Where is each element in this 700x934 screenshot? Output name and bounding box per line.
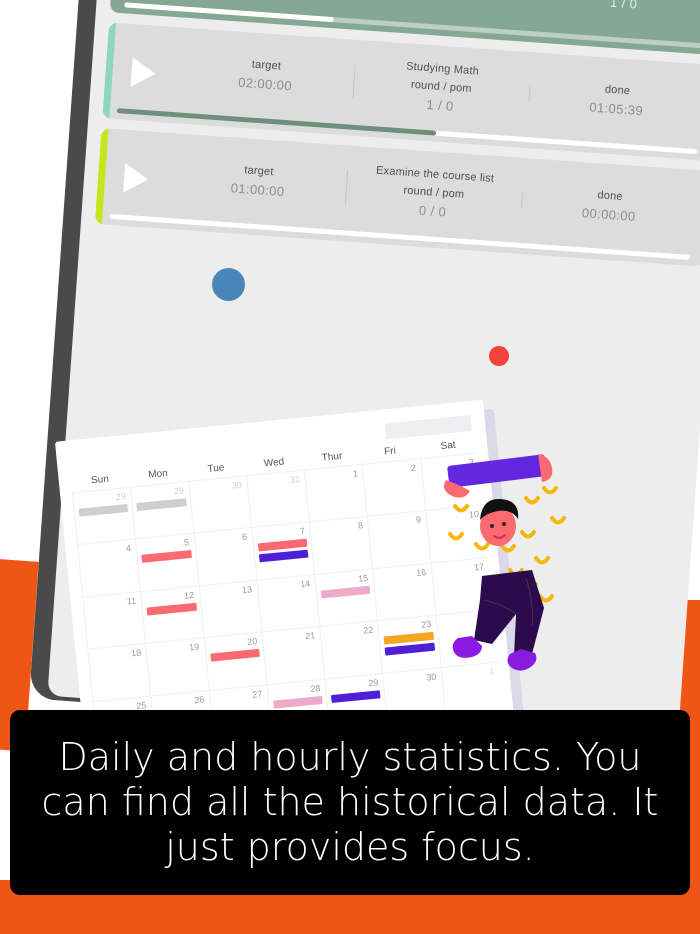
calendar-day-cell[interactable]: 23 — [377, 615, 440, 673]
calendar-day-cell[interactable]: 7 — [251, 522, 314, 580]
calendar-day-cell[interactable]: 6 — [193, 527, 256, 585]
calendar-day-cell[interactable]: 30 — [188, 475, 251, 533]
play-icon[interactable] — [123, 163, 149, 195]
calendar-event-bar[interactable] — [273, 696, 323, 709]
calendar-day-cell[interactable]: 14 — [256, 574, 319, 632]
calendar-toolbar-placeholder — [385, 415, 472, 439]
calendar-day-number: 6 — [241, 532, 247, 542]
calendar-day-number: 27 — [252, 688, 263, 699]
red-dot-decoration — [489, 346, 509, 366]
calendar-event-bar[interactable] — [210, 649, 260, 662]
calendar-day-cell[interactable]: 31 — [246, 470, 309, 528]
calendar-day-number: 16 — [416, 567, 427, 578]
calendar-day-number: 1 — [352, 468, 358, 478]
calendar-day-cell[interactable]: 16 — [372, 563, 435, 621]
calendar-day-cell[interactable]: 20 — [203, 632, 266, 690]
calendar-day-cell[interactable]: 11 — [82, 591, 145, 649]
calendar-event-bar[interactable] — [79, 504, 129, 517]
calendar-day-number: 5 — [183, 538, 189, 548]
calendar-day-cell[interactable]: 29 — [130, 481, 193, 539]
calendar-day-cell[interactable]: 29 — [72, 487, 135, 545]
calendar-day-cell[interactable]: 21 — [261, 626, 324, 684]
calendar-day-number: 7 — [300, 526, 306, 536]
calendar-day-number: 26 — [194, 694, 205, 705]
calendar-day-cell[interactable]: 18 — [87, 643, 150, 701]
calendar-day-cell[interactable]: 2 — [362, 458, 425, 516]
calendar-day-cell[interactable]: 15 — [314, 568, 377, 626]
calendar-event-bar[interactable] — [147, 603, 197, 616]
calendar-day-number: 30 — [231, 480, 242, 491]
calendar-day-number: 23 — [421, 619, 432, 630]
round-value: 1 / 0 — [539, 0, 700, 17]
calendar-day-number: 9 — [416, 515, 422, 525]
calendar-day-cell[interactable]: 9 — [367, 510, 430, 568]
calendar-day-cell[interactable]: 5 — [135, 533, 198, 591]
task-title-column: Examine the course list round / pom 0 / … — [344, 163, 523, 225]
task-target-column: target 02:00:00 — [177, 53, 355, 97]
task-done-column: done 01:05:39 — [360, 0, 538, 8]
calendar-day-number: 14 — [300, 578, 311, 589]
calendar-day-number: 13 — [242, 584, 253, 595]
blue-dot-decoration — [212, 268, 245, 301]
calendar-day-number: 12 — [184, 590, 195, 601]
calendar-day-number: 15 — [358, 573, 369, 584]
calendar-day-number: 8 — [358, 521, 364, 531]
calendar-day-number: 11 — [126, 595, 136, 606]
task-target-column: target 01:00:00 — [169, 159, 347, 203]
done-value: 01:05:39 — [364, 0, 533, 8]
calendar-day-number: 20 — [247, 636, 258, 647]
calendar-day-cell[interactable]: 19 — [145, 637, 208, 695]
task-done-column: done 00:00:00 — [520, 184, 698, 228]
play-icon[interactable] — [131, 57, 157, 89]
caption-text: Daily and hourly statistics. You can fin… — [10, 735, 690, 869]
task-done-column: done 01:05:39 — [528, 78, 700, 122]
calendar-day-number: 4 — [125, 543, 131, 553]
calendar-day-number: 28 — [310, 683, 321, 694]
calendar-event-bar[interactable] — [137, 498, 187, 511]
calendar-day-cell[interactable]: 8 — [309, 516, 372, 574]
screenshot-root: target 03:00:00 done 01:05:39 round / po… — [0, 0, 700, 934]
calendar-day-number: 30 — [426, 671, 437, 682]
calendar-day-number: 29 — [368, 677, 379, 688]
calendar-day-cell[interactable]: 13 — [198, 580, 261, 638]
task-accent-bar — [110, 0, 124, 13]
task-title-column: Studying Math round / pom 1 / 0 — [352, 57, 531, 119]
calendar-event-bar[interactable] — [259, 550, 309, 563]
calendar-day-number: 29 — [115, 491, 126, 502]
calendar-day-number: 31 — [289, 474, 300, 485]
calendar-day-cell[interactable]: 22 — [319, 620, 382, 678]
calendar-day-number: 22 — [363, 625, 374, 636]
calendar-day-cell[interactable]: 12 — [140, 585, 203, 643]
calendar-day-number: 2 — [410, 463, 416, 473]
calendar-event-bar[interactable] — [142, 550, 192, 563]
calendar-day-number: 19 — [189, 642, 200, 653]
calendar-event-bar[interactable] — [331, 690, 381, 703]
calendar-day-cell[interactable]: 1 — [304, 464, 367, 522]
calendar-day-number: 25 — [136, 700, 147, 711]
calendar-day-number: 21 — [305, 631, 316, 642]
person-illustration — [440, 448, 570, 673]
calendar-day-number: 29 — [173, 485, 184, 496]
caption-banner: Daily and hourly statistics. You can fin… — [10, 710, 690, 895]
task-accent-bar — [102, 22, 116, 118]
calendar-day-cell[interactable]: 4 — [77, 539, 140, 597]
calendar-grid: SunMonTueWedThurFriSat292930311234567891… — [70, 437, 503, 753]
calendar-event-bar[interactable] — [385, 643, 435, 656]
calendar-event-bar[interactable] — [321, 586, 371, 599]
task-round-column: round / pom 1 / 0 — [535, 0, 700, 17]
calendar-day-number: 18 — [131, 648, 142, 659]
task-accent-bar — [95, 128, 109, 224]
